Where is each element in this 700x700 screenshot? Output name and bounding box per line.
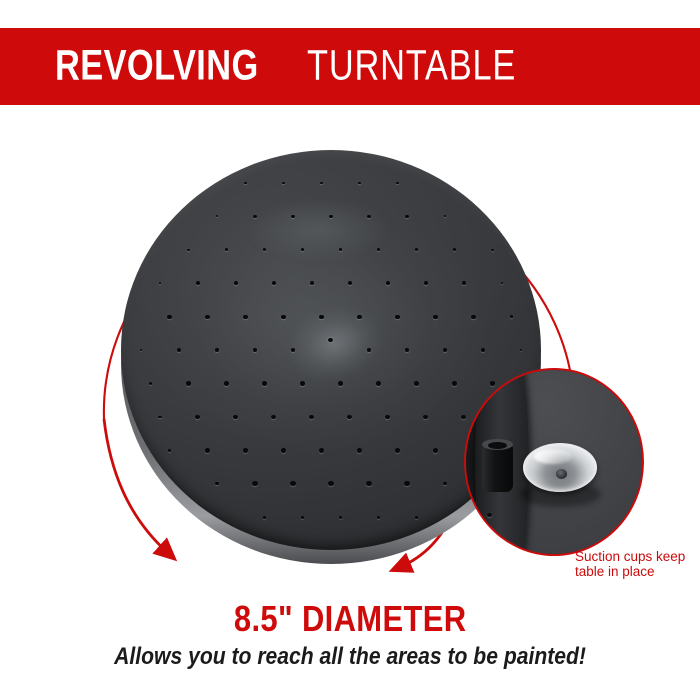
header-banner: REVOLVINGTURNTABLE bbox=[0, 28, 700, 105]
disc-hole bbox=[510, 315, 513, 317]
suction-cup-nub bbox=[556, 469, 567, 479]
disc-hole bbox=[244, 182, 246, 184]
disc-hole bbox=[243, 315, 247, 319]
disc-hole bbox=[195, 415, 200, 420]
disc-hole bbox=[367, 215, 371, 218]
disc-hole bbox=[329, 215, 333, 218]
callout-line-1: Suction cups keep bbox=[575, 549, 700, 564]
disc-hole bbox=[357, 315, 361, 319]
magnifier-content bbox=[464, 368, 644, 556]
disc-hole bbox=[347, 415, 352, 420]
disc-hole bbox=[168, 449, 171, 452]
disc-hole bbox=[328, 481, 334, 486]
disc-hole bbox=[319, 315, 323, 319]
disc-hole bbox=[290, 481, 296, 486]
diameter-subline-text: Allows you to reach all the areas to be … bbox=[114, 645, 586, 669]
disc-hole bbox=[310, 281, 314, 285]
disc-hole bbox=[177, 348, 182, 352]
disc-center-scuff bbox=[281, 297, 390, 390]
diameter-subline: Allows you to reach all the areas to be … bbox=[0, 645, 700, 669]
disc-hole bbox=[471, 315, 475, 319]
disc-hole bbox=[414, 381, 419, 385]
disc-hole bbox=[158, 416, 161, 419]
disc-center-pivot bbox=[328, 338, 333, 342]
disc-hole bbox=[253, 348, 258, 352]
disc-hole bbox=[405, 348, 410, 352]
disc-hole bbox=[452, 381, 457, 385]
title-light-part: TURNTABLE bbox=[307, 44, 516, 87]
disc-hole bbox=[224, 381, 229, 385]
magnified-center-tube bbox=[482, 443, 513, 492]
disc-hole bbox=[187, 249, 189, 251]
disc-hole bbox=[491, 249, 493, 251]
disc-hole bbox=[423, 415, 428, 420]
disc-hole bbox=[433, 448, 438, 453]
disc-hole bbox=[320, 182, 322, 184]
disc-hole bbox=[252, 481, 258, 486]
disc-hole bbox=[481, 348, 486, 352]
disc-hole bbox=[215, 348, 220, 352]
disc-hole bbox=[149, 382, 152, 385]
disc-hole bbox=[196, 281, 200, 285]
disc-hole bbox=[271, 415, 276, 420]
diameter-headline-text: 8.5" DIAMETER bbox=[234, 601, 466, 637]
disc-hole bbox=[433, 315, 437, 319]
disc-hole bbox=[319, 448, 324, 453]
disc-hole bbox=[338, 381, 343, 385]
suction-cup-callout: Suction cups keep table in place bbox=[575, 549, 700, 579]
callout-line-2: table in place bbox=[575, 564, 700, 579]
suction-cup-highlight bbox=[534, 449, 572, 464]
disc-hole bbox=[215, 482, 218, 485]
title-bold-part: REVOLVING bbox=[55, 44, 259, 87]
disc-hole bbox=[395, 315, 399, 319]
disc-hole bbox=[159, 282, 162, 284]
disc-hole bbox=[444, 215, 446, 217]
disc-hole bbox=[424, 281, 428, 285]
disc-hole bbox=[501, 282, 504, 284]
disc-hole bbox=[358, 182, 360, 184]
disc-hole bbox=[243, 448, 248, 453]
disc-hole bbox=[443, 348, 448, 352]
disc-hole bbox=[415, 248, 419, 251]
disc-hole bbox=[357, 448, 362, 453]
disc-hole bbox=[186, 381, 191, 385]
disc-hole bbox=[205, 315, 209, 319]
disc-sheen-upper bbox=[247, 198, 390, 262]
disc-hole bbox=[386, 281, 390, 285]
disc-hole bbox=[385, 415, 390, 420]
disc-hole bbox=[376, 381, 381, 385]
disc-hole bbox=[301, 516, 305, 519]
disc-hole bbox=[216, 215, 218, 217]
disc-hole bbox=[453, 248, 457, 251]
disc-hole bbox=[262, 381, 267, 385]
disc-hole bbox=[520, 349, 523, 352]
disc-hole bbox=[366, 481, 372, 486]
diameter-headline: 8.5" DIAMETER bbox=[0, 601, 700, 637]
infographic-canvas: REVOLVINGTURNTABLE bbox=[0, 0, 700, 700]
disc-hole bbox=[272, 281, 276, 285]
disc-hole bbox=[377, 516, 381, 519]
product-illustration bbox=[0, 105, 700, 595]
page-title: REVOLVINGTURNTABLE bbox=[55, 44, 568, 87]
magnifier-inset bbox=[464, 368, 644, 556]
disc-hole bbox=[281, 315, 285, 319]
disc-hole bbox=[225, 248, 229, 251]
disc-hole bbox=[233, 415, 238, 420]
disc-hole bbox=[291, 215, 295, 218]
disc-hole bbox=[253, 215, 257, 218]
disc-hole bbox=[167, 315, 171, 319]
disc-hole bbox=[348, 281, 352, 285]
disc-hole bbox=[395, 448, 400, 453]
disc-hole bbox=[462, 281, 466, 285]
disc-hole bbox=[396, 182, 398, 184]
disc-hole bbox=[281, 448, 286, 453]
disc-hole bbox=[404, 481, 410, 486]
disc-hole bbox=[234, 281, 238, 285]
disc-hole bbox=[263, 516, 267, 519]
disc-hole bbox=[443, 482, 446, 485]
disc-hole bbox=[205, 448, 210, 453]
suction-cup bbox=[523, 443, 597, 492]
disc-hole bbox=[339, 516, 343, 519]
disc-hole bbox=[282, 182, 284, 184]
disc-hole bbox=[309, 415, 314, 420]
disc-hole bbox=[415, 516, 419, 519]
disc-hole bbox=[140, 349, 143, 352]
disc-hole bbox=[405, 215, 409, 218]
disc-hole bbox=[300, 381, 305, 385]
